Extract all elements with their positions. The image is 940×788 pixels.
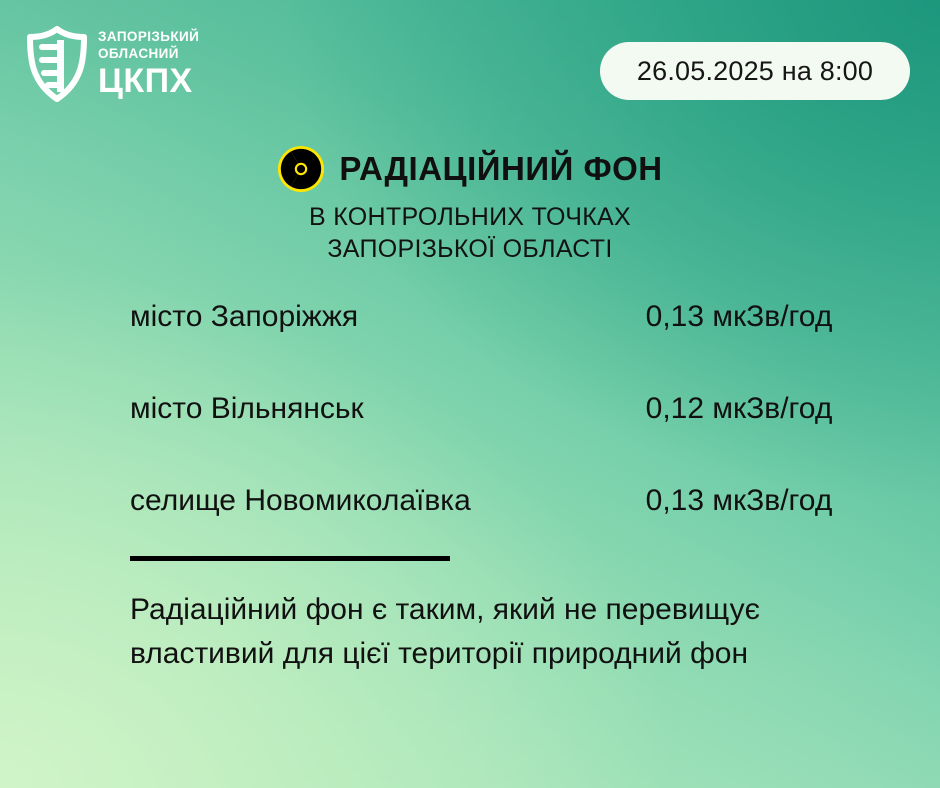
logo-wordmark: ЗАПОРІЗЬКИЙ ОБЛАСНИЙ ЦКПХ (98, 30, 199, 98)
logo-abbreviation: ЦКПХ (98, 64, 199, 98)
heading-block: РАДІАЦІЙНИЙ ФОН В КОНТРОЛЬНИХ ТОЧКАХ ЗАП… (0, 145, 940, 265)
measurement-value: 0,12 мкЗв/год (610, 392, 868, 426)
footer-note-line-2: властивий для цієї території природний ф… (130, 632, 880, 676)
measurement-row: місто Вільнянськ 0,12 мкЗв/год (130, 392, 868, 484)
measurement-location: місто Вільнянськ (130, 392, 610, 426)
measurement-location: місто Запоріжжя (130, 300, 610, 334)
measurement-value: 0,13 мкЗв/год (610, 300, 868, 334)
organization-logo: ЗАПОРІЗЬКИЙ ОБЛАСНИЙ ЦКПХ (26, 26, 199, 102)
date-badge-text: 26.05.2025 на 8:00 (637, 56, 873, 87)
logo-line-1: ЗАПОРІЗЬКИЙ (98, 30, 199, 44)
radiation-background-infographic: ЗАПОРІЗЬКИЙ ОБЛАСНИЙ ЦКПХ 26.05.2025 на … (0, 0, 940, 788)
section-divider (130, 556, 450, 561)
heading-subtitle: В КОНТРОЛЬНИХ ТОЧКАХ ЗАПОРІЗЬКОЇ ОБЛАСТІ (0, 201, 940, 265)
radiation-trefoil-icon (277, 145, 325, 193)
measurement-row: місто Запоріжжя 0,13 мкЗв/год (130, 300, 868, 392)
heading-subtitle-line-1: В КОНТРОЛЬНИХ ТОЧКАХ (0, 201, 940, 233)
measurement-row: селище Новомиколаївка 0,13 мкЗв/год (130, 484, 868, 576)
measurement-value: 0,13 мкЗв/год (610, 484, 868, 518)
footer-note-line-1: Радіаційний фон є таким, який не перевищ… (130, 588, 880, 632)
logo-line-2: ОБЛАСНИЙ (98, 47, 199, 61)
heading-main-row: РАДІАЦІЙНИЙ ФОН (0, 145, 940, 193)
date-badge: 26.05.2025 на 8:00 (600, 42, 910, 100)
shield-logo-icon (26, 26, 88, 102)
measurement-list: місто Запоріжжя 0,13 мкЗв/год місто Віль… (130, 300, 868, 576)
page-title: РАДІАЦІЙНИЙ ФОН (339, 150, 662, 188)
measurement-location: селище Новомиколаївка (130, 484, 610, 518)
footer-note: Радіаційний фон є таким, який не перевищ… (130, 588, 880, 675)
heading-subtitle-line-2: ЗАПОРІЗЬКОЇ ОБЛАСТІ (0, 233, 940, 265)
